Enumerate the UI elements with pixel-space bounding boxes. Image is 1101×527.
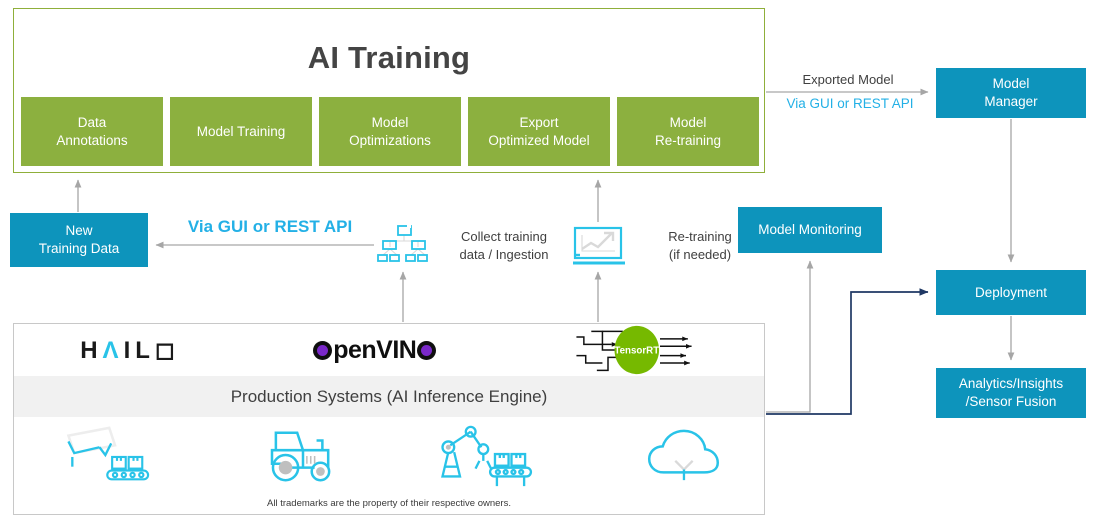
openvino-eye-icon (417, 341, 436, 360)
hailo-logo: HΛIL◻ (80, 336, 180, 365)
caption-retraining-if-needed: Re-training (if needed) (648, 228, 752, 263)
caption-via-gui-rest-api: Via GUI or REST API (180, 216, 360, 239)
vendor-logo-row: HΛIL◻ penVIN (14, 324, 764, 376)
node-model-manager[interactable]: Model Manager (936, 68, 1086, 118)
trademark-note: All trademarks are the property of their… (14, 498, 764, 509)
stage-data-annotations[interactable]: Data Annotations (21, 97, 163, 166)
robot-arm-conveyor-icon (430, 422, 558, 495)
application-icon-row (14, 422, 764, 494)
ai-training-title: AI Training (13, 40, 765, 76)
node-deployment[interactable]: Deployment (936, 270, 1086, 315)
stage-model-re-training[interactable]: Model Re-training (617, 97, 759, 166)
node-model-monitoring[interactable]: Model Monitoring (738, 207, 882, 253)
node-analytics-insights[interactable]: Analytics/Insights /Sensor Fusion (936, 368, 1086, 418)
ai-training-stage-row: Data Annotations Model Training Model Op… (21, 97, 759, 166)
production-systems-band: Production Systems (AI Inference Engine) (14, 376, 764, 417)
stage-model-optimizations[interactable]: Model Optimizations (319, 97, 461, 166)
caption-exported-model: Exported Model (778, 71, 918, 89)
openvino-wordmark: penVIN (312, 336, 437, 365)
svg-text:TensorRT: TensorRT (614, 345, 659, 356)
network-hierarchy-icon (374, 223, 434, 267)
production-systems-label: Production Systems (AI Inference Engine) (231, 387, 548, 407)
tractor-icon (264, 425, 342, 492)
openvino-logo: penVIN (312, 336, 437, 365)
openvino-eye-icon (313, 341, 332, 360)
surveillance-camera-conveyor-icon (58, 422, 176, 495)
node-new-training-data[interactable]: New Training Data (10, 213, 148, 267)
tensorrt-logo: TensorRT (570, 324, 698, 376)
caption-collect-training-data: Collect training data / Ingestion (440, 228, 568, 263)
stage-export-optimized-model[interactable]: Export Optimized Model (468, 97, 610, 166)
hailo-wordmark: HΛIL◻ (80, 336, 180, 365)
laptop-chart-icon (570, 225, 628, 269)
caption-exported-model-via: Via GUI or REST API (770, 95, 930, 113)
cloud-icon (646, 428, 720, 489)
stage-model-training[interactable]: Model Training (170, 97, 312, 166)
diagram-canvas: AI Training Data Annotations Model Train… (0, 0, 1101, 527)
